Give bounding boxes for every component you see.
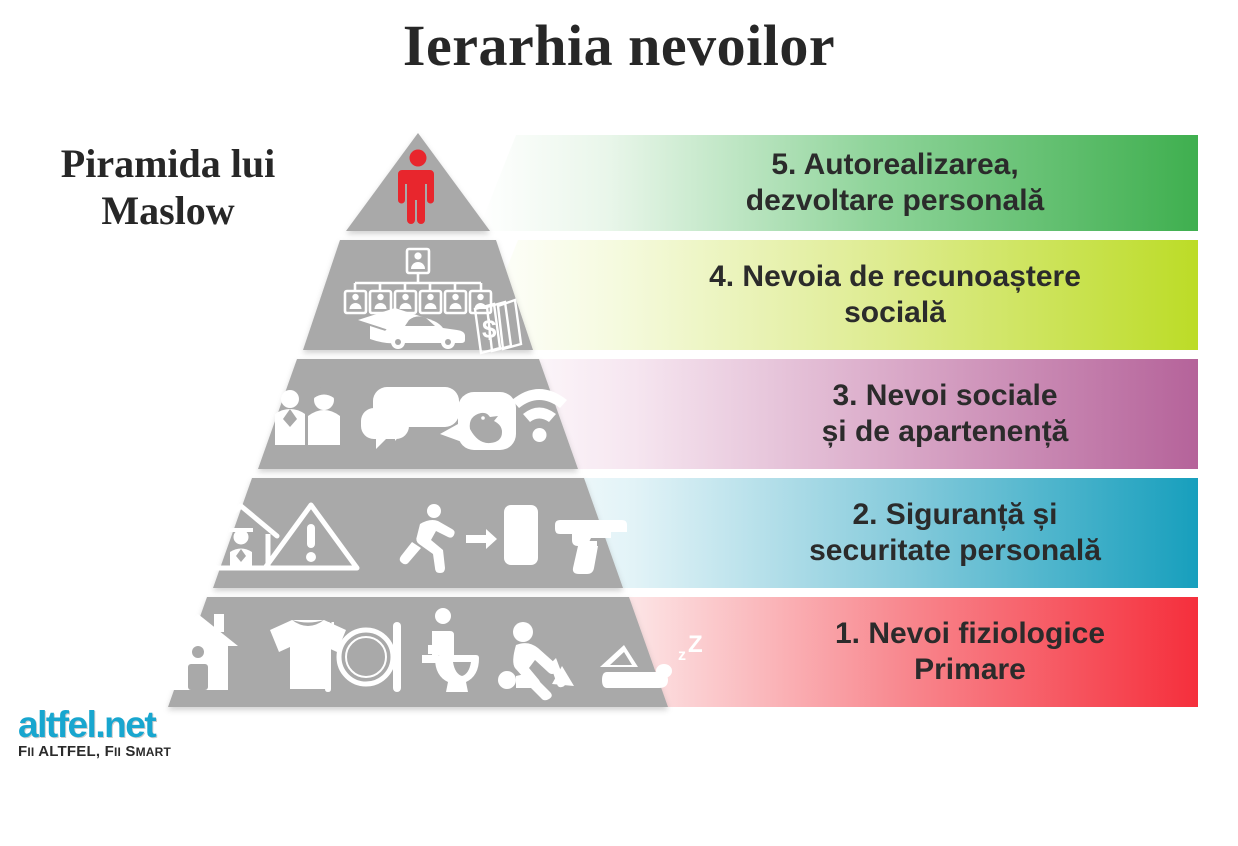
level-2-label-line-2: securitate personală [726, 533, 1184, 569]
level-4-label-line-1: 4. Nevoia de recunoaștere [606, 259, 1184, 295]
logo-tagline: FII ALTFEL, FII SMART [18, 744, 171, 761]
logo-wordmark: altfel.net [18, 706, 171, 743]
altfel-logo[interactable]: altfel.net FII ALTFEL, FII SMART [18, 706, 171, 761]
level-2-label-line-1: 2. Siguranță și [726, 497, 1184, 533]
level-2-label: 2. Siguranță și securitate personală [456, 497, 1198, 569]
level-3-label-line-2: și de apartenență [706, 414, 1184, 450]
level-1-label-line-2: Primare [756, 652, 1184, 688]
level-3-label: 3. Nevoi sociale și de apartenență [456, 378, 1198, 450]
level-5-label-line-2: dezvoltare personală [606, 183, 1184, 219]
level-5-bar[interactable]: 5. Autorealizarea, dezvoltare personală [456, 135, 1198, 231]
infographic-canvas: Ierarhia nevoilor Piramida lui Maslow 5.… [0, 0, 1238, 846]
level-5-label: 5. Autorealizarea, dezvoltare personală [456, 147, 1198, 219]
level-3-label-line-1: 3. Nevoi sociale [706, 378, 1184, 414]
level-1-label: 1. Nevoi fiziologice Primare [456, 616, 1198, 688]
level-5-label-line-1: 5. Autorealizarea, [606, 147, 1184, 183]
level-4-label-line-2: socială [606, 295, 1184, 331]
level-4-label: 4. Nevoia de recunoaștere socială [456, 259, 1198, 331]
level-1-label-line-1: 1. Nevoi fiziologice [756, 616, 1184, 652]
